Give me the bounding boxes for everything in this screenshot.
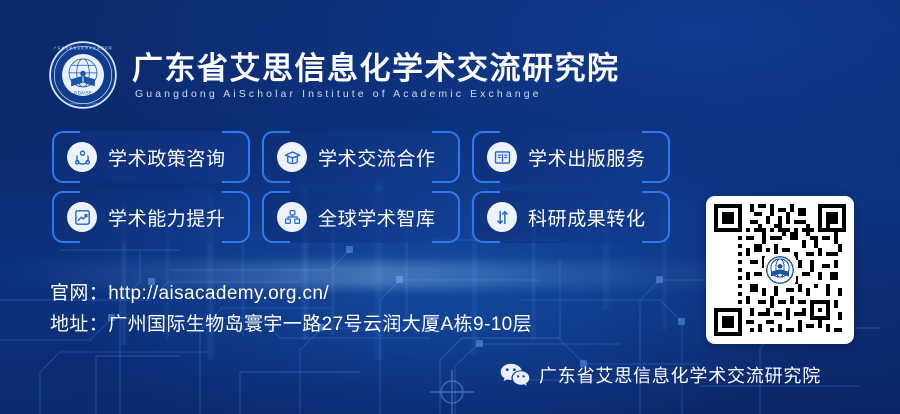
wechat-account-name: 广东省艾思信息化学术交流研究院 (539, 362, 821, 388)
service-card-capability-improvement[interactable]: 学术能力提升 (52, 191, 250, 243)
service-card-academic-publishing[interactable]: 学术出版服务 (472, 131, 670, 183)
svg-text:AiScholar Institute: AiScholar Institute (68, 102, 98, 105)
service-card-academic-policy[interactable]: 学术政策咨询 (52, 131, 250, 183)
corner-bracket-icon (642, 191, 670, 219)
service-card-global-think-tank[interactable]: 全球学术智库 (262, 191, 460, 243)
policy-network-icon (67, 142, 97, 172)
service-card-label: 学术能力提升 (108, 204, 226, 231)
graduation-cap-icon (277, 142, 307, 172)
chart-growth-icon (67, 202, 97, 232)
open-book-icon (487, 142, 517, 172)
qr-code-panel[interactable] (706, 196, 854, 344)
service-card-label: 学术政策咨询 (108, 144, 226, 171)
service-card-label: 科研成果转化 (528, 204, 646, 231)
service-card-row: 学术政策咨询 学术交流合作 (52, 131, 670, 183)
service-card-row: 学术能力提升 全球学术智库 (52, 191, 670, 243)
corner-bracket-icon (642, 215, 670, 243)
qr-code (714, 204, 846, 336)
contact-block: 官网：http://aisacademy.org.cn/ 地址：广州国际生物岛寰… (50, 281, 532, 337)
page-title: 广东省艾思信息化学术交流研究院 (132, 52, 620, 87)
service-card-research-transformation[interactable]: 科研成果转化 (472, 191, 670, 243)
address-line: 地址：广州国际生物岛寰宇一路27号云润大厦A栋9-10层 (50, 312, 532, 338)
corner-bracket-icon (642, 155, 670, 183)
transfer-arrows-icon (487, 202, 517, 232)
corner-bracket-icon (432, 155, 460, 183)
service-card-academic-exchange[interactable]: 学术交流合作 (262, 131, 460, 183)
page-subtitle: Guangdong AiScholar Institute of Academi… (132, 88, 620, 100)
corner-bracket-icon (432, 131, 460, 159)
corner-bracket-icon (222, 131, 250, 159)
corner-bracket-icon (222, 155, 250, 183)
corner-bracket-icon (432, 215, 460, 243)
cube-cluster-icon (277, 202, 307, 232)
institute-seal-logo-icon: GDAISE 广东省艾思信息化学术交流研究院 AiScholar Institu… (48, 40, 118, 110)
service-card-label: 学术出版服务 (528, 144, 646, 171)
corner-bracket-icon (432, 191, 460, 219)
service-card-label: 学术交流合作 (318, 144, 436, 171)
service-card-grid: 学术政策咨询 学术交流合作 (52, 131, 670, 243)
corner-bracket-icon (222, 191, 250, 219)
brand-header: GDAISE 广东省艾思信息化学术交流研究院 AiScholar Institu… (48, 40, 620, 110)
corner-bracket-icon (222, 215, 250, 243)
svg-text:广东省艾思信息化学术交流研究院: 广东省艾思信息化学术交流研究院 (54, 45, 113, 50)
wechat-icon (500, 362, 530, 388)
institute-seal-logo-icon (767, 257, 793, 283)
service-card-label: 全球学术智库 (318, 204, 436, 231)
website-line[interactable]: 官网：http://aisacademy.org.cn/ (50, 281, 532, 307)
wechat-account: 广东省艾思信息化学术交流研究院 (500, 362, 821, 388)
svg-text:GDAISE: GDAISE (74, 91, 92, 96)
promo-banner: GDAISE 广东省艾思信息化学术交流研究院 AiScholar Institu… (0, 0, 900, 414)
corner-bracket-icon (642, 131, 670, 159)
